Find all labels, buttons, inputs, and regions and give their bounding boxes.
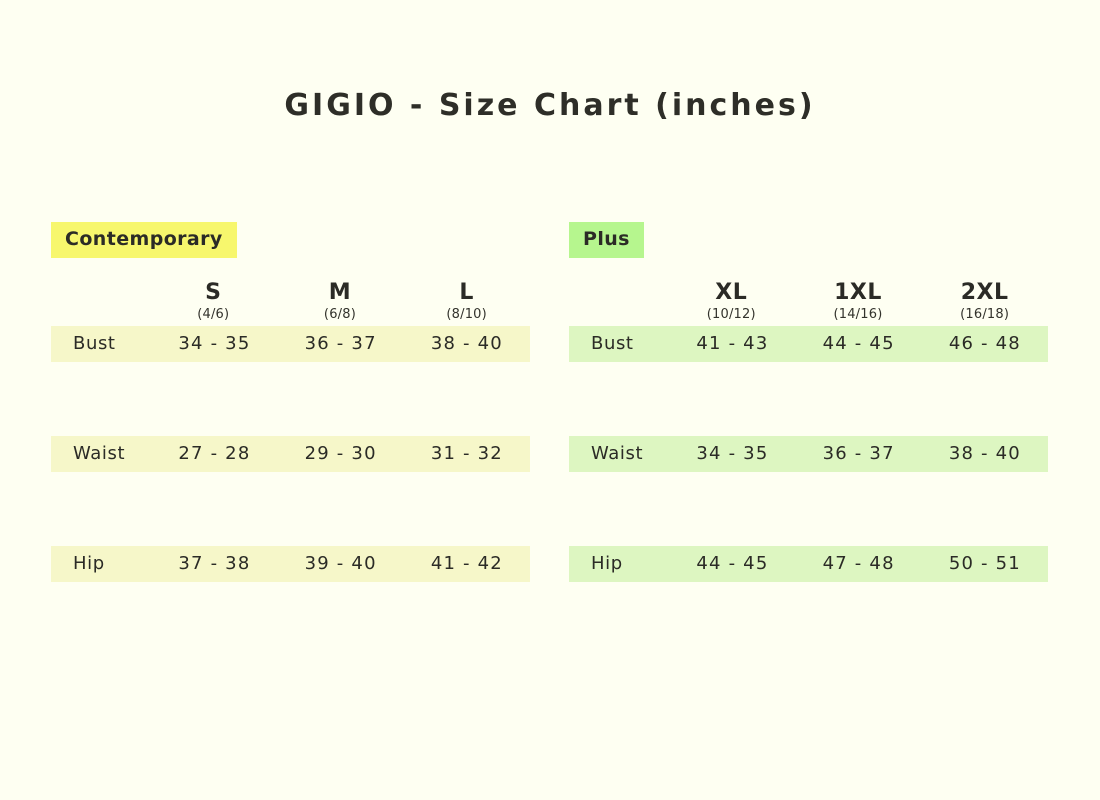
size-chart-page: { "title": "GIGIO - Size Chart (inches)"…: [0, 0, 1100, 800]
size-table-contemporary: Contemporary S (4/6) M (6/8) L (8/10) Bu…: [51, 222, 530, 582]
column-size-label: 2XL: [921, 281, 1048, 305]
table-row: Bust 41 - 43 44 - 45 46 - 48: [569, 326, 1048, 362]
size-table-plus: Plus XL (10/12) 1XL (14/16) 2XL (16/18) …: [569, 222, 1048, 582]
table-row: Hip 37 - 38 39 - 40 41 - 42: [51, 546, 530, 582]
table-cell: 46 - 48: [922, 333, 1048, 354]
header-spacer: [51, 281, 150, 322]
column-size-label: XL: [668, 281, 795, 305]
table-row: Waist 27 - 28 29 - 30 31 - 32: [51, 436, 530, 472]
column-numeric-label: (16/18): [921, 308, 1048, 322]
table-cell: 29 - 30: [278, 443, 404, 464]
table-cell: 36 - 37: [278, 333, 404, 354]
table-cell: 41 - 43: [669, 333, 795, 354]
table-row: Waist 34 - 35 36 - 37 38 - 40: [569, 436, 1048, 472]
row-measure-label: Hip: [51, 553, 151, 574]
table-cell: 38 - 40: [404, 333, 530, 354]
size-tables: Contemporary S (4/6) M (6/8) L (8/10) Bu…: [0, 222, 1100, 582]
table-cell: 41 - 42: [404, 553, 530, 574]
table-cell: 44 - 45: [796, 333, 922, 354]
table-cell: 50 - 51: [922, 553, 1048, 574]
table-cell: 34 - 35: [669, 443, 795, 464]
column-header-l: L (8/10): [403, 281, 530, 322]
column-header-2xl: 2XL (16/18): [921, 281, 1048, 322]
row-measure-label: Bust: [569, 333, 669, 354]
table-header-row-plus: XL (10/12) 1XL (14/16) 2XL (16/18): [569, 281, 1048, 326]
column-header-1xl: 1XL (14/16): [795, 281, 922, 322]
column-numeric-label: (6/8): [277, 308, 404, 322]
column-header-m: M (6/8): [277, 281, 404, 322]
table-cell: 38 - 40: [922, 443, 1048, 464]
section-label-plus: Plus: [569, 222, 644, 258]
column-numeric-label: (4/6): [150, 308, 277, 322]
column-numeric-label: (10/12): [668, 308, 795, 322]
row-measure-label: Bust: [51, 333, 151, 354]
column-size-label: L: [403, 281, 530, 305]
table-cell: 31 - 32: [404, 443, 530, 464]
column-header-s: S (4/6): [150, 281, 277, 322]
table-cell: 37 - 38: [151, 553, 277, 574]
column-numeric-label: (14/16): [795, 308, 922, 322]
table-cell: 47 - 48: [796, 553, 922, 574]
column-numeric-label: (8/10): [403, 308, 530, 322]
table-cell: 27 - 28: [151, 443, 277, 464]
table-cell: 34 - 35: [151, 333, 277, 354]
row-measure-label: Waist: [569, 443, 669, 464]
column-size-label: M: [277, 281, 404, 305]
page-title: GIGIO - Size Chart (inches): [0, 88, 1100, 123]
column-size-label: 1XL: [795, 281, 922, 305]
table-cell: 39 - 40: [278, 553, 404, 574]
table-cell: 44 - 45: [669, 553, 795, 574]
table-row: Hip 44 - 45 47 - 48 50 - 51: [569, 546, 1048, 582]
row-measure-label: Waist: [51, 443, 151, 464]
row-measure-label: Hip: [569, 553, 669, 574]
table-header-row-contemporary: S (4/6) M (6/8) L (8/10): [51, 281, 530, 326]
table-cell: 36 - 37: [796, 443, 922, 464]
column-size-label: S: [150, 281, 277, 305]
table-row: Bust 34 - 35 36 - 37 38 - 40: [51, 326, 530, 362]
column-header-xl: XL (10/12): [668, 281, 795, 322]
section-label-contemporary: Contemporary: [51, 222, 237, 258]
header-spacer: [569, 281, 668, 322]
